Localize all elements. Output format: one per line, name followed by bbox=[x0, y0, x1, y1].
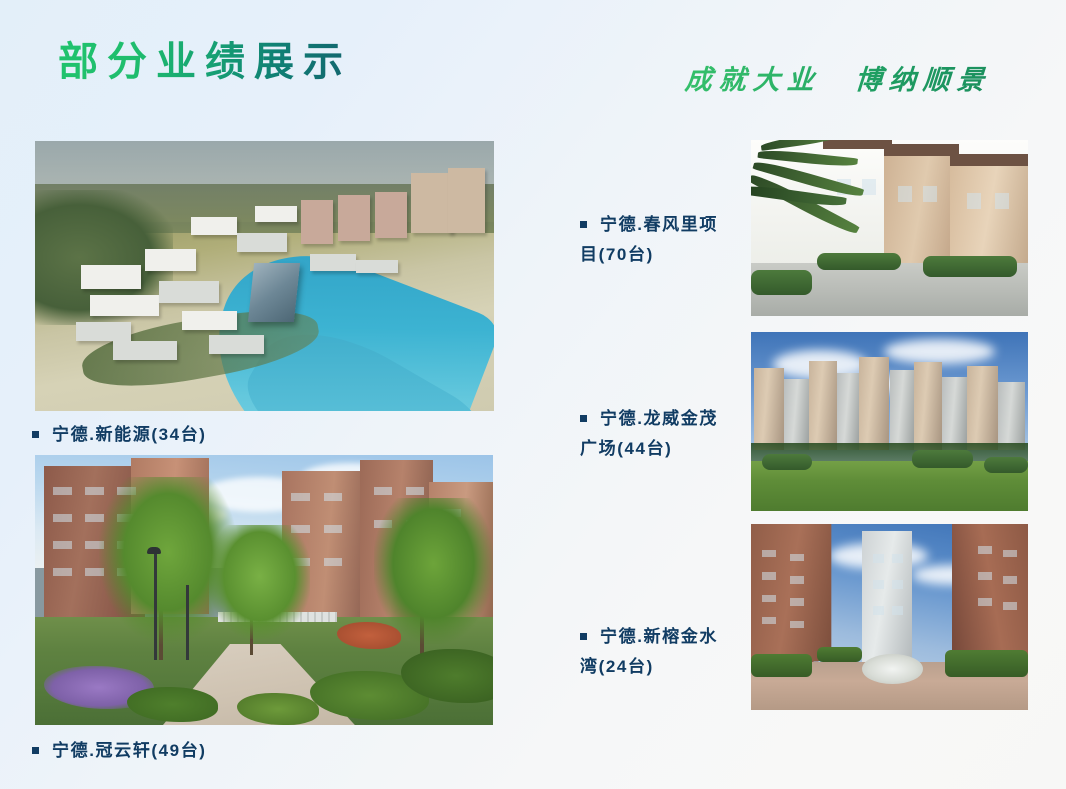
photo-highrise-lawn bbox=[751, 332, 1028, 511]
caption-ningde-xinrongjinshuiwan: 宁德.新榕金水湾(24台) bbox=[580, 622, 732, 682]
slogan-text: 成就大业 博纳顺景 bbox=[684, 58, 993, 97]
caption-ningde-guanyunxuan: 宁德.冠云轩(49台) bbox=[32, 736, 207, 766]
photo-towers-fountain bbox=[751, 524, 1028, 710]
photo-palm-lowrise-street bbox=[751, 140, 1028, 316]
bullet-icon bbox=[580, 415, 587, 422]
page-title: 部分业绩展示 bbox=[58, 40, 352, 84]
bullet-icon bbox=[580, 221, 587, 228]
bullet-icon bbox=[32, 747, 39, 754]
bullet-icon bbox=[580, 633, 587, 640]
caption-ningde-longweijinmao: 宁德.龙威金茂广场(44台) bbox=[580, 404, 732, 464]
photo-industrial-park-aerial bbox=[35, 141, 494, 411]
caption-ningde-chunfengli: 宁德.春风里项目(70台) bbox=[580, 210, 732, 270]
photo-residential-street-trees bbox=[35, 455, 493, 725]
caption-ningde-xinnengyuan: 宁德.新能源(34台) bbox=[32, 420, 207, 450]
bullet-icon bbox=[32, 431, 39, 438]
slide-canvas: 部分业绩展示 成就大业 博纳顺景 bbox=[0, 0, 1066, 789]
